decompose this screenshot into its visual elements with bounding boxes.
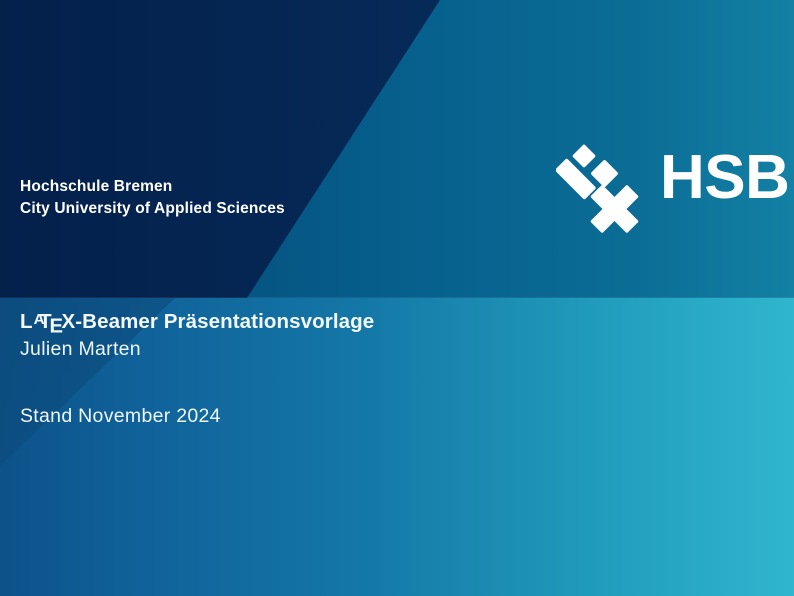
latex-e: E [50, 314, 64, 339]
hsb-wordmark: HSB [660, 147, 789, 209]
latex-x: X [61, 309, 75, 335]
latex-logotype: LATEX [20, 309, 75, 335]
presentation-date: Stand November 2024 [20, 405, 221, 428]
institution-line-2: City University of Applied Sciences [20, 198, 285, 220]
title-slide: Hochschule Bremen City University of App… [0, 0, 794, 596]
latex-a: A [34, 311, 45, 330]
presentation-title: LATEX-Beamer Präsentationsvorlage [20, 309, 760, 335]
title-suffix: -Beamer Präsentationsvorlage [75, 309, 374, 335]
latex-l: L [20, 310, 33, 333]
institution-line-1: Hochschule Bremen [20, 176, 285, 198]
hsb-logo: HSB [556, 143, 788, 243]
band-divider [0, 297, 794, 298]
hsb-mark-icon [556, 143, 660, 243]
title-block: LATEX-Beamer Präsentationsvorlage Julien… [20, 309, 760, 361]
presentation-author: Julien Marten [20, 338, 760, 361]
institution-name: Hochschule Bremen City University of App… [20, 176, 285, 220]
